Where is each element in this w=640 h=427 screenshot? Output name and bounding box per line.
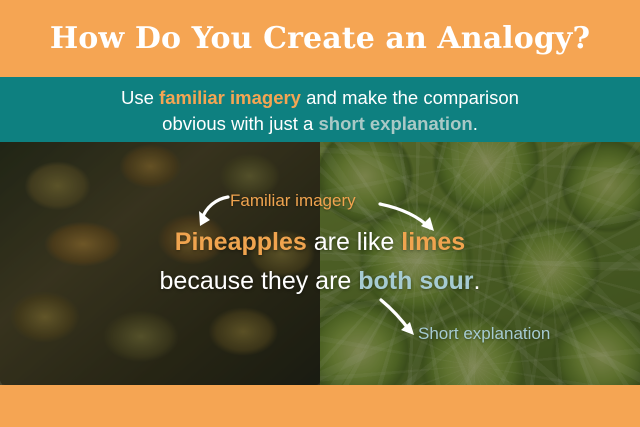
right-photo-dim-overlay: [320, 142, 640, 385]
example-line-2: because they are both sour.: [0, 267, 640, 296]
header-band: How Do You Create an Analogy?: [0, 0, 640, 77]
page-title: How Do You Create an Analogy?: [0, 18, 640, 60]
example-word-pineapples: Pineapples: [175, 228, 307, 256]
example-line-1: Pineapples are like limes: [0, 228, 640, 257]
subtitle-band: Use familiar imagery and make the compar…: [0, 77, 640, 142]
subtitle-line2-part2: .: [473, 113, 478, 134]
pineapples-photo: [0, 142, 320, 385]
example-line2-prefix: because they are: [160, 267, 359, 295]
lime-slices-photo: [320, 142, 640, 385]
subtitle-line1-part1: Use: [121, 87, 159, 108]
example-word-limes: limes: [401, 228, 465, 256]
subtitle-line1-highlight: familiar imagery: [159, 87, 301, 108]
footer-band: ProWritingAid: [0, 385, 640, 427]
subtitle-line2-part1: obvious with just a: [162, 113, 318, 134]
subtitle-text: Use familiar imagery and make the compar…: [0, 85, 640, 137]
annotation-familiar-imagery: Familiar imagery: [230, 191, 356, 211]
photo-area: [0, 142, 640, 385]
example-phrase-both-sour: both sour: [358, 267, 473, 295]
example-line2-suffix: .: [474, 267, 481, 295]
left-photo-dim-overlay: [0, 142, 320, 385]
example-line1-mid: are like: [307, 228, 401, 256]
annotation-short-explanation: Short explanation: [418, 324, 550, 344]
subtitle-line2-highlight: short explanation: [318, 113, 472, 134]
subtitle-line1-part2: and make the comparison: [301, 87, 519, 108]
infographic-canvas: How Do You Create an Analogy? Use famili…: [0, 0, 640, 427]
